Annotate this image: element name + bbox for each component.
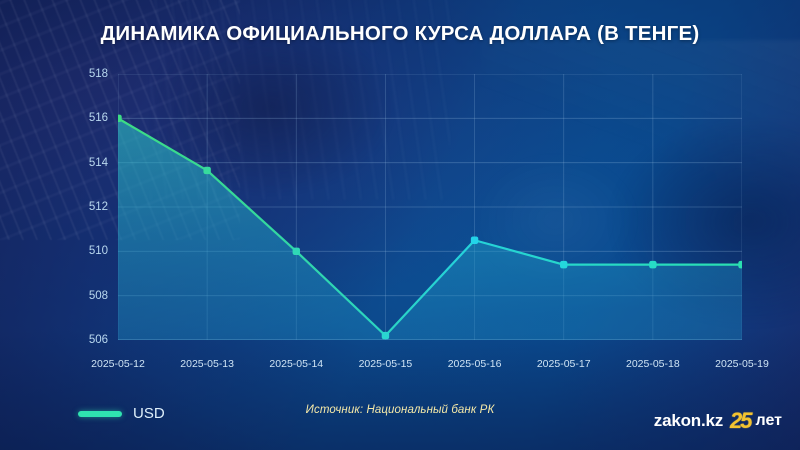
line-chart-svg xyxy=(118,74,742,340)
data-point-marker[interactable] xyxy=(738,261,742,268)
y-axis-tick-label: 510 xyxy=(66,245,108,257)
logo-anniversary-number: 25 xyxy=(730,408,750,434)
brand-logo[interactable]: zakon.kz 25 лет xyxy=(654,408,782,434)
x-axis-tick-label: 2025-05-17 xyxy=(537,358,591,370)
area-fill xyxy=(118,118,742,340)
x-axis-tick-label: 2025-05-19 xyxy=(715,358,769,370)
x-axis-tick-label: 2025-05-12 xyxy=(91,358,145,370)
y-axis-tick-label: 506 xyxy=(66,334,108,346)
chart-canvas: ДИНАМИКА ОФИЦИАЛЬНОГО КУРСА ДОЛЛАРА (В Т… xyxy=(0,0,800,450)
x-axis-tick-label: 2025-05-15 xyxy=(359,358,413,370)
data-point-marker[interactable] xyxy=(118,115,122,122)
y-axis-tick-label: 512 xyxy=(66,201,108,213)
data-point-marker[interactable] xyxy=(471,237,478,244)
x-axis-tick-label: 2025-05-14 xyxy=(269,358,323,370)
data-point-marker[interactable] xyxy=(203,167,210,174)
x-axis-tick-label: 2025-05-16 xyxy=(448,358,502,370)
y-axis-tick-label: 516 xyxy=(66,112,108,124)
y-axis-tick-label: 514 xyxy=(66,157,108,169)
x-axis-tick-label: 2025-05-13 xyxy=(180,358,234,370)
data-point-marker[interactable] xyxy=(382,332,389,339)
data-point-marker[interactable] xyxy=(649,261,656,268)
x-axis-tick-label: 2025-05-18 xyxy=(626,358,680,370)
logo-anniversary-suffix: лет xyxy=(756,412,782,430)
y-axis-tick-label: 508 xyxy=(66,290,108,302)
data-point-marker[interactable] xyxy=(560,261,567,268)
plot-area xyxy=(118,74,742,340)
logo-text: zakon.kz xyxy=(654,411,723,431)
data-point-marker[interactable] xyxy=(293,248,300,255)
chart-title: ДИНАМИКА ОФИЦИАЛЬНОГО КУРСА ДОЛЛАРА (В Т… xyxy=(0,22,800,46)
y-axis-tick-label: 518 xyxy=(66,68,108,80)
